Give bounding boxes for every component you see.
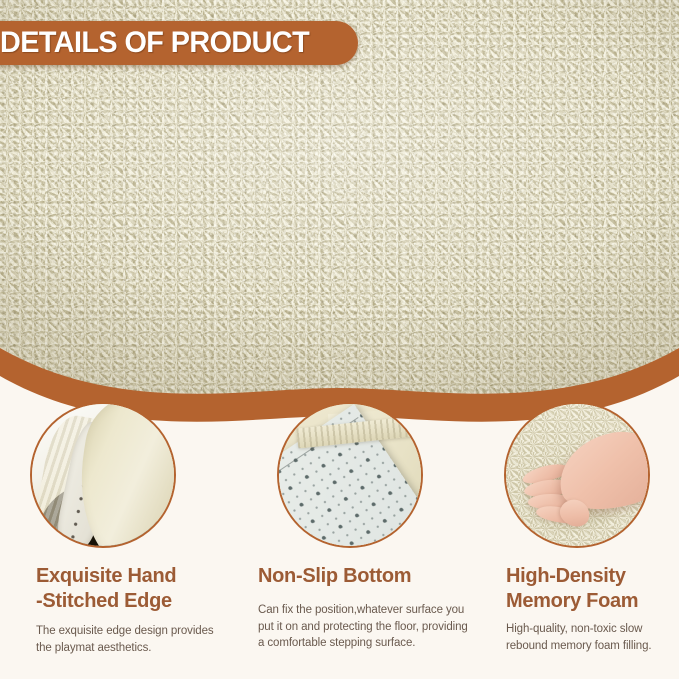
feature-title-line-1: Non-Slip Bottom	[258, 565, 411, 587]
page-title: DETAILS OF PRODUCT	[0, 21, 309, 65]
feature-title-line-1: High-Density	[506, 565, 626, 587]
feature-title-line-2: Memory Foam	[506, 590, 638, 612]
feature-block-exquisite-hand-stitched-edge: Exquisite Hand -Stitched Edge The exquis…	[36, 564, 226, 656]
feature-title: High-Density Memory Foam	[506, 564, 676, 614]
feature-title: Non-Slip Bottom	[258, 564, 473, 589]
feature-image-high-density-memory-foam	[504, 402, 650, 548]
product-details-infographic: DETAILS OF PRODUCT	[0, 0, 679, 679]
feature-image-exquisite-hand-stitched-edge	[30, 402, 176, 548]
feature-title-line-2: -Stitched Edge	[36, 590, 172, 612]
feature-block-non-slip-bottom: Non-Slip Bottom Can fix the position,wha…	[258, 564, 473, 652]
feature-description: The exquisite edge design provides the p…	[36, 623, 226, 656]
title-banner: DETAILS OF PRODUCT	[0, 21, 358, 65]
feature-image-non-slip-bottom	[277, 402, 423, 548]
feature-description: High-quality, non-toxic slow rebound mem…	[506, 621, 676, 654]
feature-description: Can fix the position,whatever surface yo…	[258, 602, 473, 652]
feature-block-high-density-memory-foam: High-Density Memory Foam High-quality, n…	[506, 564, 676, 654]
feature-title-line-1: Exquisite Hand	[36, 565, 176, 587]
feature-title: Exquisite Hand -Stitched Edge	[36, 564, 226, 614]
